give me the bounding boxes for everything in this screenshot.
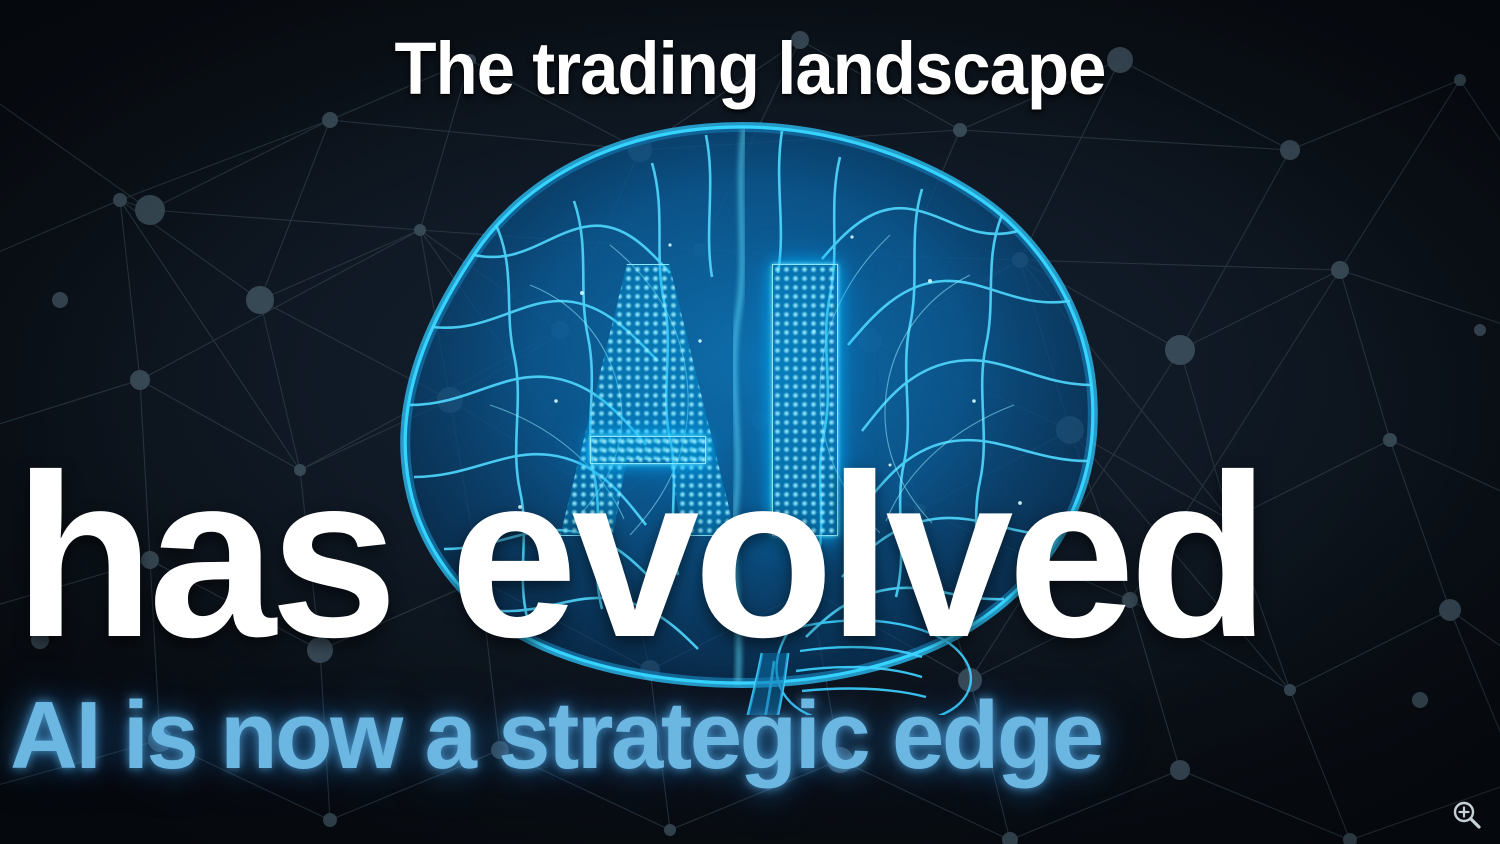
zoom-in-icon[interactable] xyxy=(1450,798,1484,832)
page-title: The trading landscape xyxy=(53,32,1448,106)
headline-primary: has evolved xyxy=(14,455,1471,659)
slide-canvas: The trading landscape has evolved AI is … xyxy=(0,0,1500,844)
headline-subtitle: AI is now a strategic edge xyxy=(10,688,1460,784)
